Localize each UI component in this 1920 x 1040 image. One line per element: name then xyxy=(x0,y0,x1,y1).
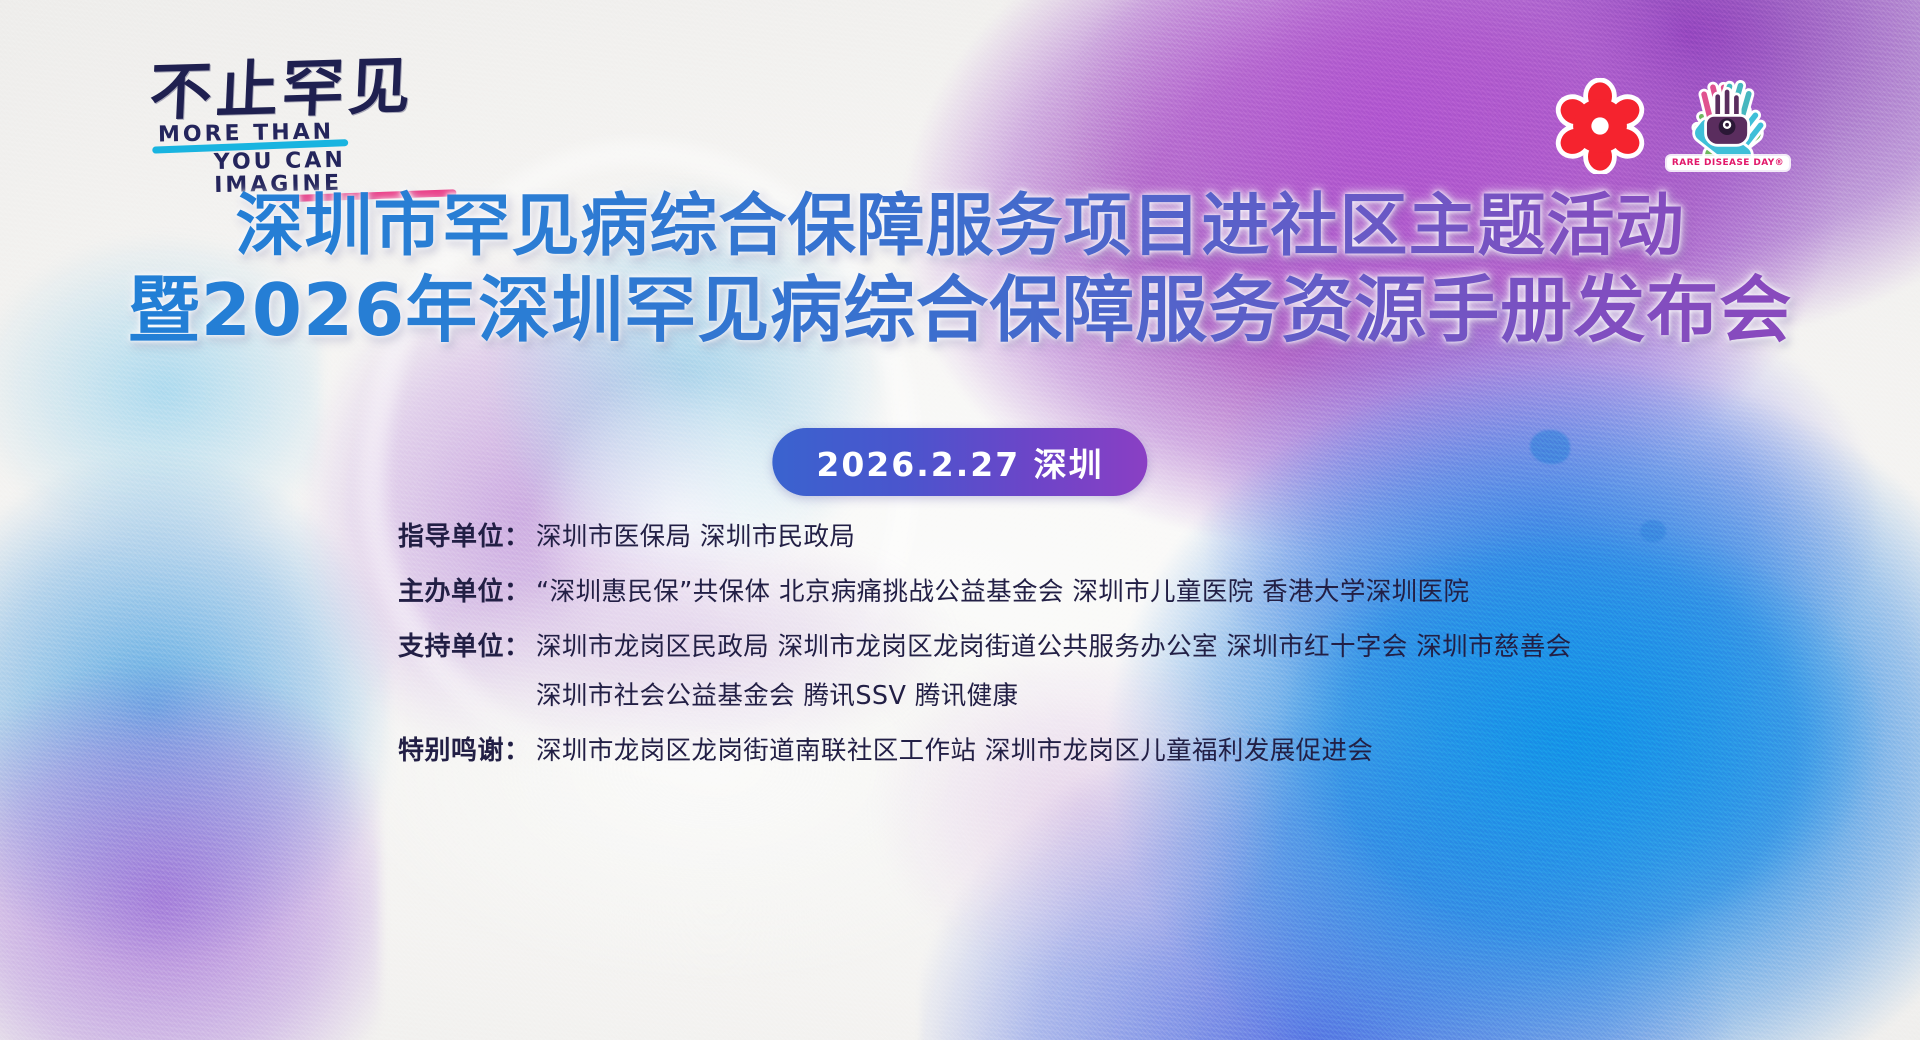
brand-logo-english-line1: MORE THAN xyxy=(158,120,334,146)
credit-value: 深圳市龙岗区民政局 深圳市龙岗区龙岗街道公共服务办公室 深圳市红十字会 深圳市慈… xyxy=(536,626,1572,663)
credit-label: 主办单位 xyxy=(382,571,504,608)
credit-row: 指导单位 ： 深圳市医保局 深圳市民政局 xyxy=(382,516,1572,553)
credit-value: 深圳市医保局 深圳市民政局 xyxy=(536,516,855,553)
credit-value: 深圳市社会公益基金会 腾讯SSV 腾讯健康 xyxy=(536,675,1018,712)
rare-disease-day-logo: RARE DISEASE DAY® xyxy=(1674,78,1782,186)
credit-row-continuation: 支持单位 ： 深圳市社会公益基金会 腾讯SSV 腾讯健康 xyxy=(382,675,1572,712)
credit-value: “深圳惠民保”共保体 北京病痛挑战公益基金会 深圳市儿童医院 香港大学深圳医院 xyxy=(536,571,1469,608)
title-line-1: 深圳市罕见病综合保障服务项目进社区主题活动 xyxy=(0,188,1920,267)
credits-block: 指导单位 ： 深圳市医保局 深圳市民政局 主办单位 ： “深圳惠民保”共保体 北… xyxy=(382,516,1572,767)
red-flower-logo xyxy=(1552,78,1648,174)
credit-row: 主办单位 ： “深圳惠民保”共保体 北京病痛挑战公益基金会 深圳市儿童医院 香港… xyxy=(382,571,1572,608)
partner-logo-row: RARE DISEASE DAY® xyxy=(1552,78,1782,186)
credit-label: 特别鸣谢 xyxy=(382,730,504,767)
event-poster: 不止罕见 MORE THAN YOU CAN IMAGINE xyxy=(0,0,1920,1040)
credit-colon: ： xyxy=(504,571,530,608)
brand-logo: 不止罕见 MORE THAN YOU CAN IMAGINE xyxy=(150,58,450,178)
brand-logo-chinese: 不止罕见 xyxy=(148,54,451,124)
credit-colon: ： xyxy=(504,626,530,663)
credit-row: 支持单位 ： 深圳市龙岗区民政局 深圳市龙岗区龙岗街道公共服务办公室 深圳市红十… xyxy=(382,626,1572,663)
credit-colon: ： xyxy=(504,516,530,553)
title-line-2: 暨2026年深圳罕见病综合保障服务资源手册发布会 xyxy=(0,269,1920,353)
credit-value: 深圳市龙岗区龙岗街道南联社区工作站 深圳市龙岗区儿童福利发展促进会 xyxy=(536,730,1373,767)
brand-logo-english: MORE THAN YOU CAN IMAGINE xyxy=(150,122,450,195)
credit-colon: ： xyxy=(504,730,530,767)
credit-label: 支持单位 xyxy=(382,626,504,663)
date-location-badge: 2026.2.27 深圳 xyxy=(772,428,1147,496)
rare-disease-day-wordmark: RARE DISEASE DAY® xyxy=(1667,156,1789,170)
poster-title: 深圳市罕见病综合保障服务项目进社区主题活动 暨2026年深圳罕见病综合保障服务资… xyxy=(0,188,1920,352)
credit-label: 指导单位 xyxy=(382,516,504,553)
credit-row: 特别鸣谢 ： 深圳市龙岗区龙岗街道南联社区工作站 深圳市龙岗区儿童福利发展促进会 xyxy=(382,730,1572,767)
